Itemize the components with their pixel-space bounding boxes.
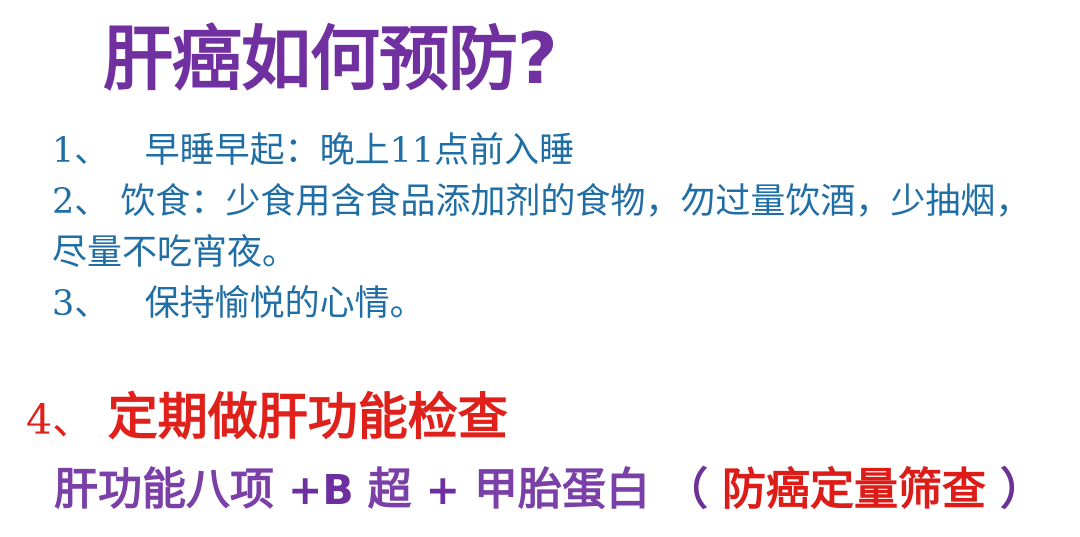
list-item-2-number: 2、 [52, 182, 109, 222]
list-item-3-number: 3、 [52, 284, 109, 324]
screening-detail-line: 肝功能八项 +B 超 + 甲胎蛋白 （ 防癌定量筛查 ） [54, 463, 1044, 517]
screening-afp: 甲胎蛋白 [474, 464, 650, 515]
screening-plus-b: +B [288, 466, 354, 514]
screening-paren-close: ） [1000, 464, 1044, 515]
list-item-1: 1、 早睡早起：晚上11点前入睡 [38, 126, 1058, 177]
list-item-1-text: 早睡早起：晚上11点前入睡 [145, 131, 575, 171]
screening-liver-panel: 肝功能八项 [54, 464, 274, 515]
list-item-1-number: 1、 [52, 131, 109, 171]
list-item-4-text: 定期做肝功能检查 [108, 387, 508, 446]
list-item-3-text: 保持愉悦的心情。 [145, 284, 425, 324]
list-item-3: 3、 保持愉悦的心情。 [38, 279, 1058, 330]
list-item-2: 2、 饮食：少食用含食品添加剂的食物，勿过量饮酒，少抽烟，尽量不吃宵夜。 [38, 177, 1058, 279]
list-item-2-text: 饮食：少食用含食品添加剂的食物，勿过量饮酒，少抽烟，尽量不吃宵夜。 [52, 182, 1030, 273]
screening-plus-sign: + [426, 466, 460, 514]
screening-paren-text: 防癌定量筛查 [722, 464, 986, 515]
list-item-4: 4、 定期做肝功能检查 [26, 389, 508, 448]
prevention-list: 1、 早睡早起：晚上11点前入睡 2、 饮食：少食用含食品添加剂的食物，勿过量饮… [38, 126, 1058, 330]
slide-canvas: 肝癌如何预防? 1、 早睡早起：晚上11点前入睡 2、 饮食：少食用含食品添加剂… [0, 0, 1080, 537]
screening-ultrasound: 超 [368, 464, 412, 515]
screening-paren-open: （ [664, 464, 708, 515]
page-title: 肝癌如何预防? [103, 19, 557, 99]
list-item-4-number: 4、 [26, 396, 93, 444]
